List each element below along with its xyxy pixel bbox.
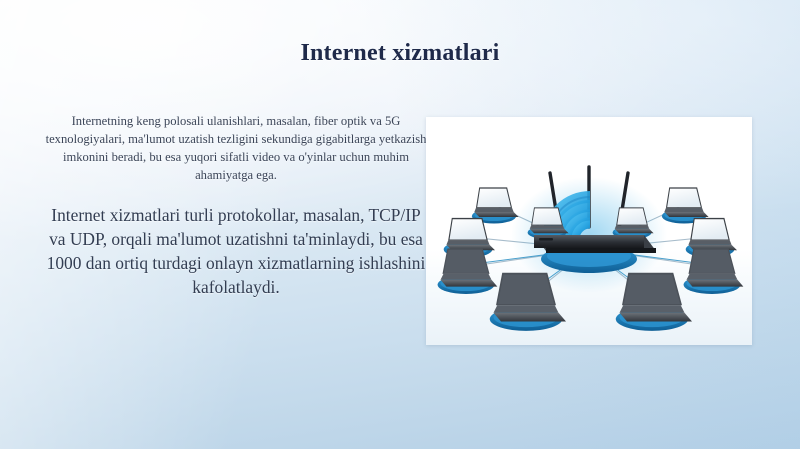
paragraph-protocols: Internet xizmatlari turli protokollar, m… bbox=[42, 203, 430, 299]
page-title: Internet xizmatlari bbox=[0, 40, 800, 67]
slide: Internet xizmatlari Internetning keng po… bbox=[0, 0, 800, 449]
network-diagram-image bbox=[426, 117, 752, 345]
laptop-lower-left bbox=[438, 248, 498, 294]
network-illustration bbox=[426, 117, 752, 345]
text-column: Internetning keng polosali ulanishlari, … bbox=[42, 113, 430, 299]
laptop-front-right bbox=[616, 273, 692, 331]
laptop-lower-right bbox=[684, 248, 744, 294]
paragraph-broadband: Internetning keng polosali ulanishlari, … bbox=[42, 113, 430, 185]
